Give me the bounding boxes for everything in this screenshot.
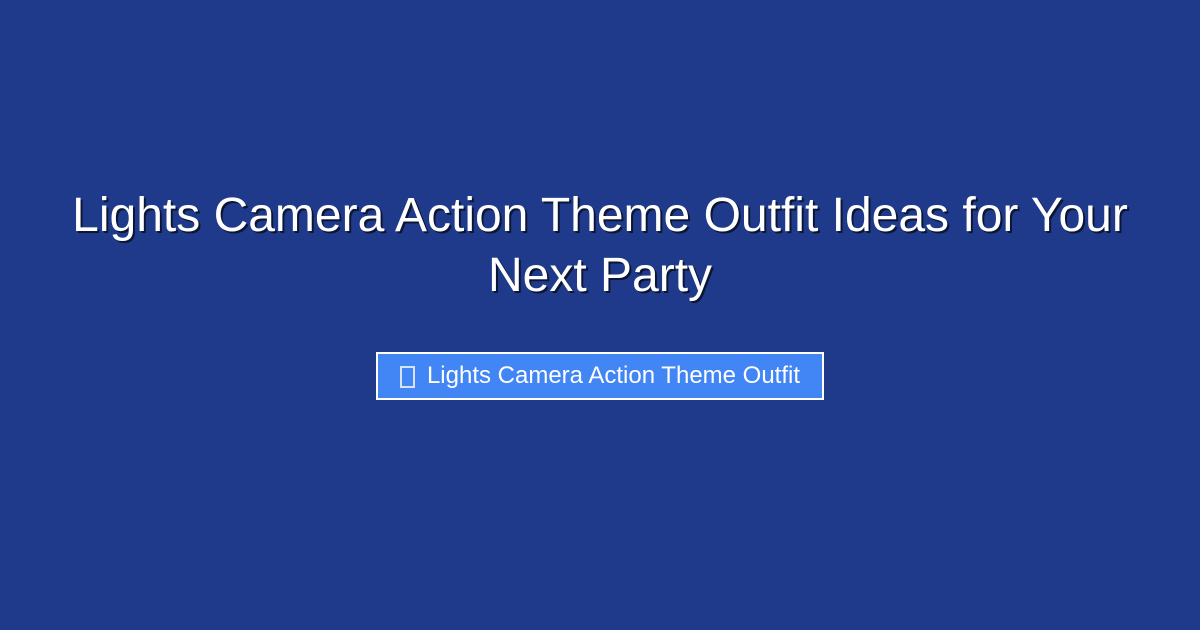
missing-glyph-tofu-icon [400,366,415,388]
page-title: Lights Camera Action Theme Outfit Ideas … [60,186,1140,306]
theme-outfit-button[interactable]: Lights Camera Action Theme Outfit [376,352,824,400]
theme-outfit-button-label: Lights Camera Action Theme Outfit [427,364,800,388]
card-content: Lights Camera Action Theme Outfit Ideas … [50,0,1150,400]
cta-container: Lights Camera Action Theme Outfit [50,352,1150,400]
social-share-card: Lights Camera Action Theme Outfit Ideas … [0,0,1200,630]
